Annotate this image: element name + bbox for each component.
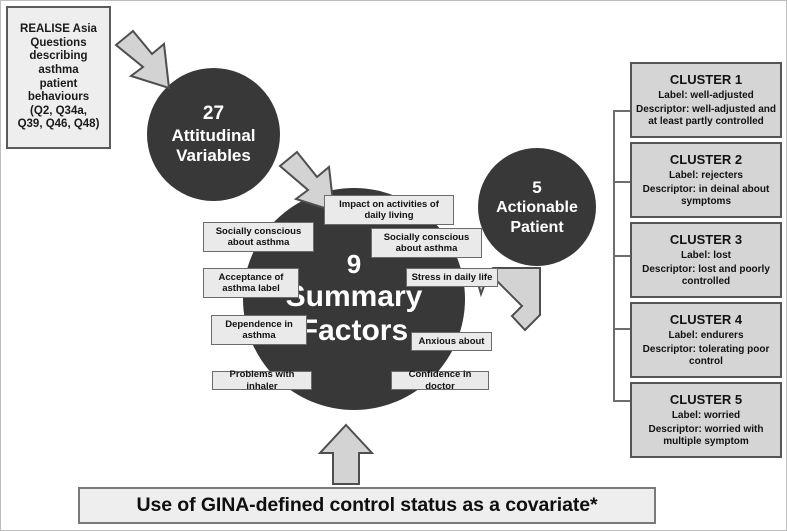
- factor-socially-conscious-left: Socially conscious about asthma: [203, 222, 314, 252]
- cluster-1-label: Label: well-adjusted: [658, 90, 754, 102]
- cluster-2-title: CLUSTER 2: [670, 153, 742, 167]
- source-questions-box: REALISE Asia Questions describing asthma…: [6, 6, 111, 149]
- cluster-1-descriptor: Descriptor: well-adjusted and at least p…: [635, 104, 777, 127]
- factor-impact-daily-living: Impact on activities of daily living: [324, 195, 454, 225]
- factor-socially-conscious-right: Socially conscious about asthma: [371, 228, 482, 258]
- cluster-4-label: Label: endurers: [668, 330, 743, 342]
- factor-acceptance-asthma-label: Acceptance of asthma label: [203, 268, 299, 298]
- cluster-box-5: CLUSTER 5 Label: worried Descriptor: wor…: [630, 382, 782, 458]
- covariate-banner: Use of GINA-defined control status as a …: [78, 487, 656, 524]
- actionable-count: 5: [532, 177, 541, 198]
- cluster-5-descriptor: Descriptor: worried with multiple sympto…: [635, 424, 777, 447]
- cluster-2-label: Label: rejecters: [669, 170, 743, 182]
- cluster-4-title: CLUSTER 4: [670, 313, 742, 327]
- actionable-label: Actionable Patient: [496, 198, 578, 236]
- cluster-1-title: CLUSTER 1: [670, 73, 742, 87]
- factor-confidence-in-doctor: Confidence in doctor: [391, 371, 489, 390]
- factor-anxious-about: Anxious about: [411, 332, 492, 351]
- cluster-box-1: CLUSTER 1 Label: well-adjusted Descripto…: [630, 62, 782, 138]
- attitudinal-label: Attitudinal Variables: [171, 126, 255, 167]
- cluster-3-label: Label: lost: [681, 250, 731, 262]
- cluster-box-4: CLUSTER 4 Label: endurers Descriptor: to…: [630, 302, 782, 378]
- cluster-2-descriptor: Descriptor: in deinal about symptoms: [635, 184, 777, 207]
- factor-problems-with-inhaler: Problems with inhaler: [212, 371, 312, 390]
- cluster-4-descriptor: Descriptor: tolerating poor control: [635, 344, 777, 367]
- figure-canvas: REALISE Asia Questions describing asthma…: [0, 0, 787, 531]
- factor-dependence-asthma: Dependence in asthma: [211, 315, 307, 345]
- cluster-5-title: CLUSTER 5: [670, 393, 742, 407]
- arrow-covariate-to-summary: [320, 425, 372, 484]
- circle-attitudinal-variables: 27 Attitudinal Variables: [147, 68, 280, 201]
- attitudinal-count: 27: [203, 102, 224, 126]
- arrow-source-to-attitudinal: [116, 31, 169, 88]
- cluster-3-title: CLUSTER 3: [670, 233, 742, 247]
- cluster-box-3: CLUSTER 3 Label: lost Descriptor: lost a…: [630, 222, 782, 298]
- cluster-3-descriptor: Descriptor: lost and poorly controlled: [635, 264, 777, 287]
- summary-count: 9: [347, 250, 361, 280]
- cluster-5-label: Label: worried: [672, 410, 740, 422]
- cluster-box-2: CLUSTER 2 Label: rejecters Descriptor: i…: [630, 142, 782, 218]
- circle-actionable-patient: 5 Actionable Patient: [478, 148, 596, 266]
- factor-stress-daily-life: Stress in daily life: [406, 268, 498, 287]
